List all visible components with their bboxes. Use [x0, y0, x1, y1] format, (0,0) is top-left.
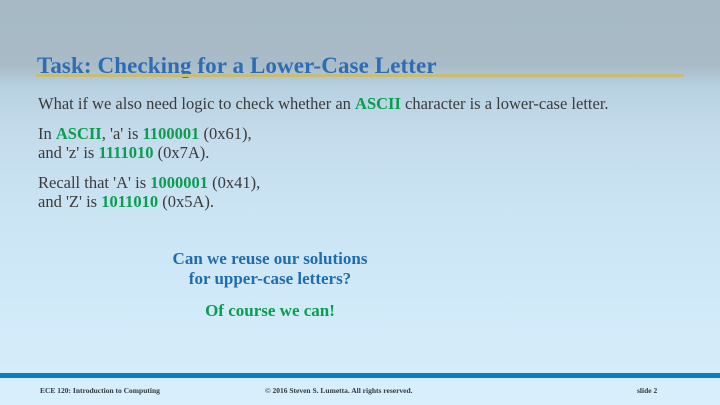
binary-value-a: 1100001	[143, 124, 200, 143]
callout-answer: Of course we can!	[60, 301, 480, 321]
lower-ascii-keyword: ASCII	[56, 124, 102, 143]
paragraph-lowercase-codes: In ASCII, 'a' is 1100001 (0x61), and 'z'…	[38, 124, 658, 163]
paragraph-uppercase-codes: Recall that 'A' is 1000001 (0x41), and '…	[38, 173, 658, 212]
upper-text-part2: and 'Z' is	[38, 192, 101, 211]
intro-text-part2: character is a lower-case letter.	[401, 94, 609, 113]
callout-question-line1: Can we reuse our solutions	[173, 249, 368, 268]
intro-text-part1: What if we also need logic to check whet…	[38, 94, 355, 113]
paragraph-intro: What if we also need logic to check whet…	[38, 94, 658, 114]
hex-value-upper-z: (0x5A).	[158, 192, 214, 211]
callout-question: Can we reuse our solutions for upper-cas…	[60, 249, 480, 289]
callout-question-line2: for upper-case letters?	[189, 269, 351, 288]
intro-ascii-keyword: ASCII	[355, 94, 401, 113]
lower-text-part2: , 'a' is	[102, 124, 143, 143]
binary-value-z: 1111010	[98, 143, 153, 162]
hex-value-a: (0x61),	[199, 124, 251, 143]
binary-value-upper-a: 1000001	[150, 173, 208, 192]
upper-text-part1: Recall that 'A' is	[38, 173, 150, 192]
slide-footer: ECE 120: Introduction to Computing © 201…	[0, 386, 720, 400]
title-underline-rule	[36, 74, 684, 77]
callout-block: Can we reuse our solutions for upper-cas…	[60, 249, 480, 321]
lower-text-part3: and 'z' is	[38, 143, 98, 162]
slide-canvas: Task: Checking for a Lower-Case Letter W…	[0, 0, 720, 405]
hex-value-z: (0x7A).	[154, 143, 210, 162]
footer-course-name: ECE 120: Introduction to Computing	[40, 386, 160, 395]
footer-slide-number: slide 2	[637, 386, 657, 395]
footer-accent-bar	[0, 373, 720, 378]
footer-copyright: © 2016 Steven S. Lumetta. All rights res…	[265, 386, 413, 395]
hex-value-upper-a: (0x41),	[208, 173, 260, 192]
slide-body: What if we also need logic to check whet…	[38, 94, 658, 212]
binary-value-upper-z: 1011010	[101, 192, 158, 211]
lower-text-part1: In	[38, 124, 56, 143]
